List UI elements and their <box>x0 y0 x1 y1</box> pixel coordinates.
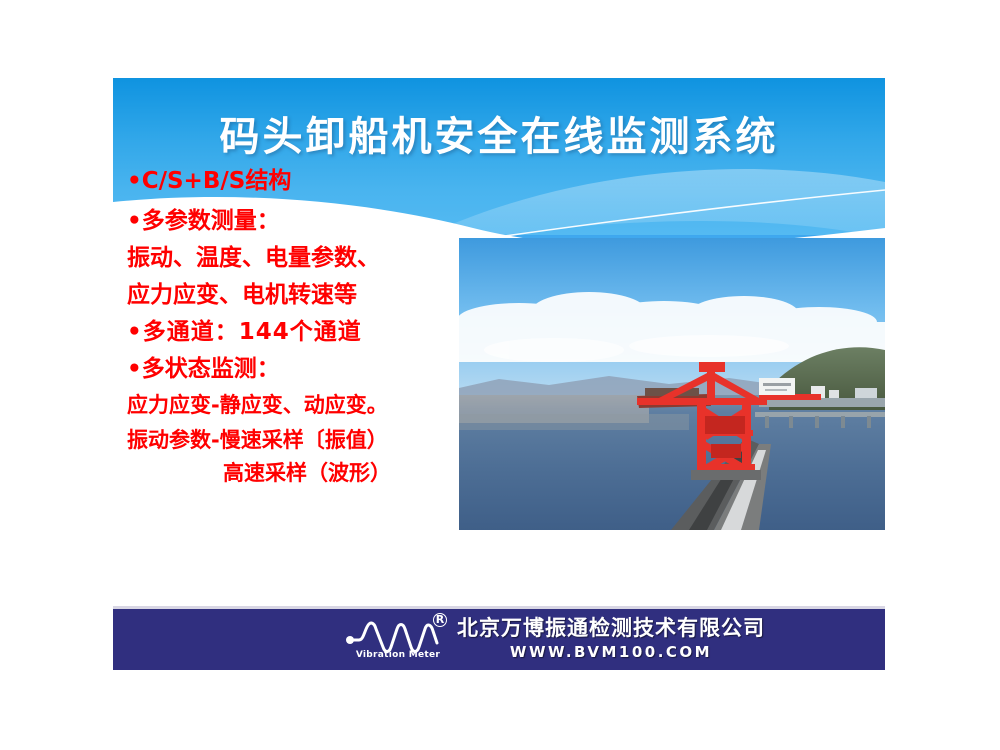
vibration-meter-logo: R Vibration Meter <box>345 613 449 661</box>
company-name: 北京万博振通检测技术有限公司 <box>457 612 765 642</box>
crane-photo <box>459 238 885 530</box>
bullet-line-1: •C/S+B/S结构 <box>127 170 547 193</box>
bullet-line-2: •多参数测量： <box>127 210 547 233</box>
registered-trademark-icon: R <box>433 613 447 627</box>
slide-title: 码头卸船机安全在线监测系统 <box>113 104 885 162</box>
slide-canvas: 码头卸船机安全在线监测系统 •C/S+B/S结构 •多参数测量： 振动、温度、电… <box>113 78 885 670</box>
footer-bar: R Vibration Meter 北京万博振通检测技术有限公司 WWW.BVM… <box>113 609 885 670</box>
company-website: WWW.BVM100.COM <box>457 643 765 661</box>
footer-content: R Vibration Meter 北京万博振通检测技术有限公司 WWW.BVM… <box>345 612 765 661</box>
footer-text-block: 北京万博振通检测技术有限公司 WWW.BVM100.COM <box>457 612 765 661</box>
logo-label: Vibration Meter <box>351 650 445 660</box>
